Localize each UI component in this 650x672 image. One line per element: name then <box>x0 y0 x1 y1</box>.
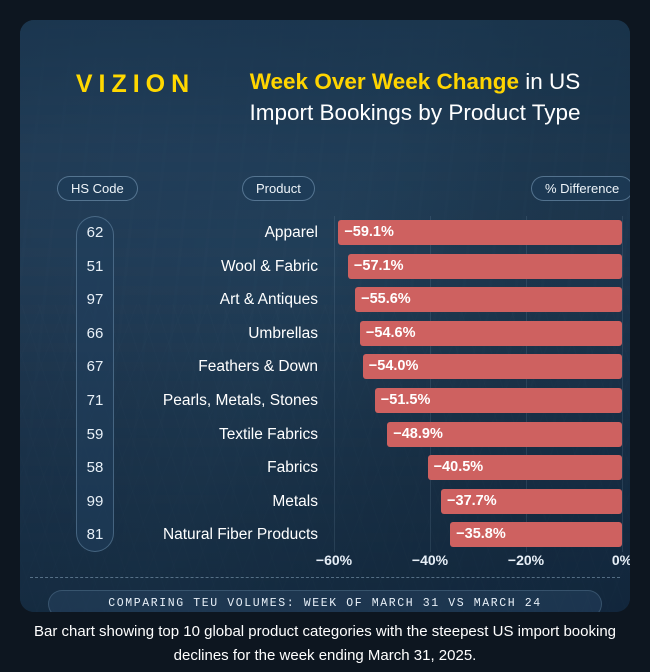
footer-banner: COMPARING TEU VOLUMES: WEEK OF MARCH 31 … <box>48 590 602 612</box>
chart-row: 97Art & Antiques−55.6% <box>20 283 630 317</box>
hs-code-value: 58 <box>76 451 114 485</box>
hs-code-value: 71 <box>76 384 114 418</box>
product-label: Wool & Fabric <box>124 250 318 284</box>
column-header-product: Product <box>242 176 315 201</box>
hs-code-value: 59 <box>76 418 114 452</box>
product-label: Textile Fabrics <box>124 418 318 452</box>
infographic-card: VIZION Week Over Week Change in US Impor… <box>20 20 630 612</box>
vizion-logo: VIZION <box>48 70 223 99</box>
product-label: Umbrellas <box>124 317 318 351</box>
chart-row: 81Natural Fiber Products−35.8% <box>20 518 630 552</box>
image-caption: Bar chart showing top 10 global product … <box>25 620 625 668</box>
hs-code-value: 66 <box>76 317 114 351</box>
bar-value-label: −51.5% <box>381 388 431 413</box>
chart-row: 71Pearls, Metals, Stones−51.5% <box>20 384 630 418</box>
chart-row: 99Metals−37.7% <box>20 485 630 519</box>
chart-row: 66Umbrellas−54.6% <box>20 317 630 351</box>
product-label: Natural Fiber Products <box>124 518 318 552</box>
x-axis-tick-label: −60% <box>316 552 352 568</box>
product-label: Apparel <box>124 216 318 250</box>
divider <box>30 577 620 578</box>
chart-row: 59Textile Fabrics−48.9% <box>20 418 630 452</box>
chart-row: 67Feathers & Down−54.0% <box>20 350 630 384</box>
bar-value-label: −37.7% <box>447 489 497 514</box>
chart-row: 62Apparel−59.1% <box>20 216 630 250</box>
product-label: Metals <box>124 485 318 519</box>
bar-value-label: −57.1% <box>354 254 404 279</box>
bar-value-label: −48.9% <box>393 422 443 447</box>
product-label: Pearls, Metals, Stones <box>124 384 318 418</box>
column-header-hs-code: HS Code <box>57 176 138 201</box>
hs-code-value: 67 <box>76 350 114 384</box>
hs-code-value: 51 <box>76 250 114 284</box>
x-axis-tick-label: −40% <box>412 552 448 568</box>
bar-value-label: −54.6% <box>366 321 416 346</box>
x-axis-tick-label: 0% <box>612 552 630 568</box>
bar-value-label: −55.6% <box>361 287 411 312</box>
title-line-2: Import Bookings by Product Type <box>249 100 580 125</box>
hs-code-value: 62 <box>76 216 114 250</box>
x-axis: −60%−40%−20%0% <box>20 552 630 574</box>
product-label: Art & Antiques <box>124 283 318 317</box>
bar-value-label: −54.0% <box>369 354 419 379</box>
hs-code-value: 97 <box>76 283 114 317</box>
column-header-difference: % Difference <box>531 176 630 201</box>
bar-value-label: −35.8% <box>456 522 506 547</box>
bar-value-label: −59.1% <box>344 220 394 245</box>
bar-chart: 62Apparel−59.1%51Wool & Fabric−57.1%97Ar… <box>20 216 630 552</box>
chart-row: 51Wool & Fabric−57.1% <box>20 250 630 284</box>
title-rest: in US <box>519 69 580 94</box>
x-axis-tick-label: −20% <box>508 552 544 568</box>
product-label: Fabrics <box>124 451 318 485</box>
title-highlight: Week Over Week Change <box>250 69 519 94</box>
page-title: Week Over Week Change in US Import Booki… <box>220 66 610 128</box>
hs-code-value: 81 <box>76 518 114 552</box>
bar-value-label: −40.5% <box>434 455 484 480</box>
hs-code-value: 99 <box>76 485 114 519</box>
chart-row: 58Fabrics−40.5% <box>20 451 630 485</box>
product-label: Feathers & Down <box>124 350 318 384</box>
